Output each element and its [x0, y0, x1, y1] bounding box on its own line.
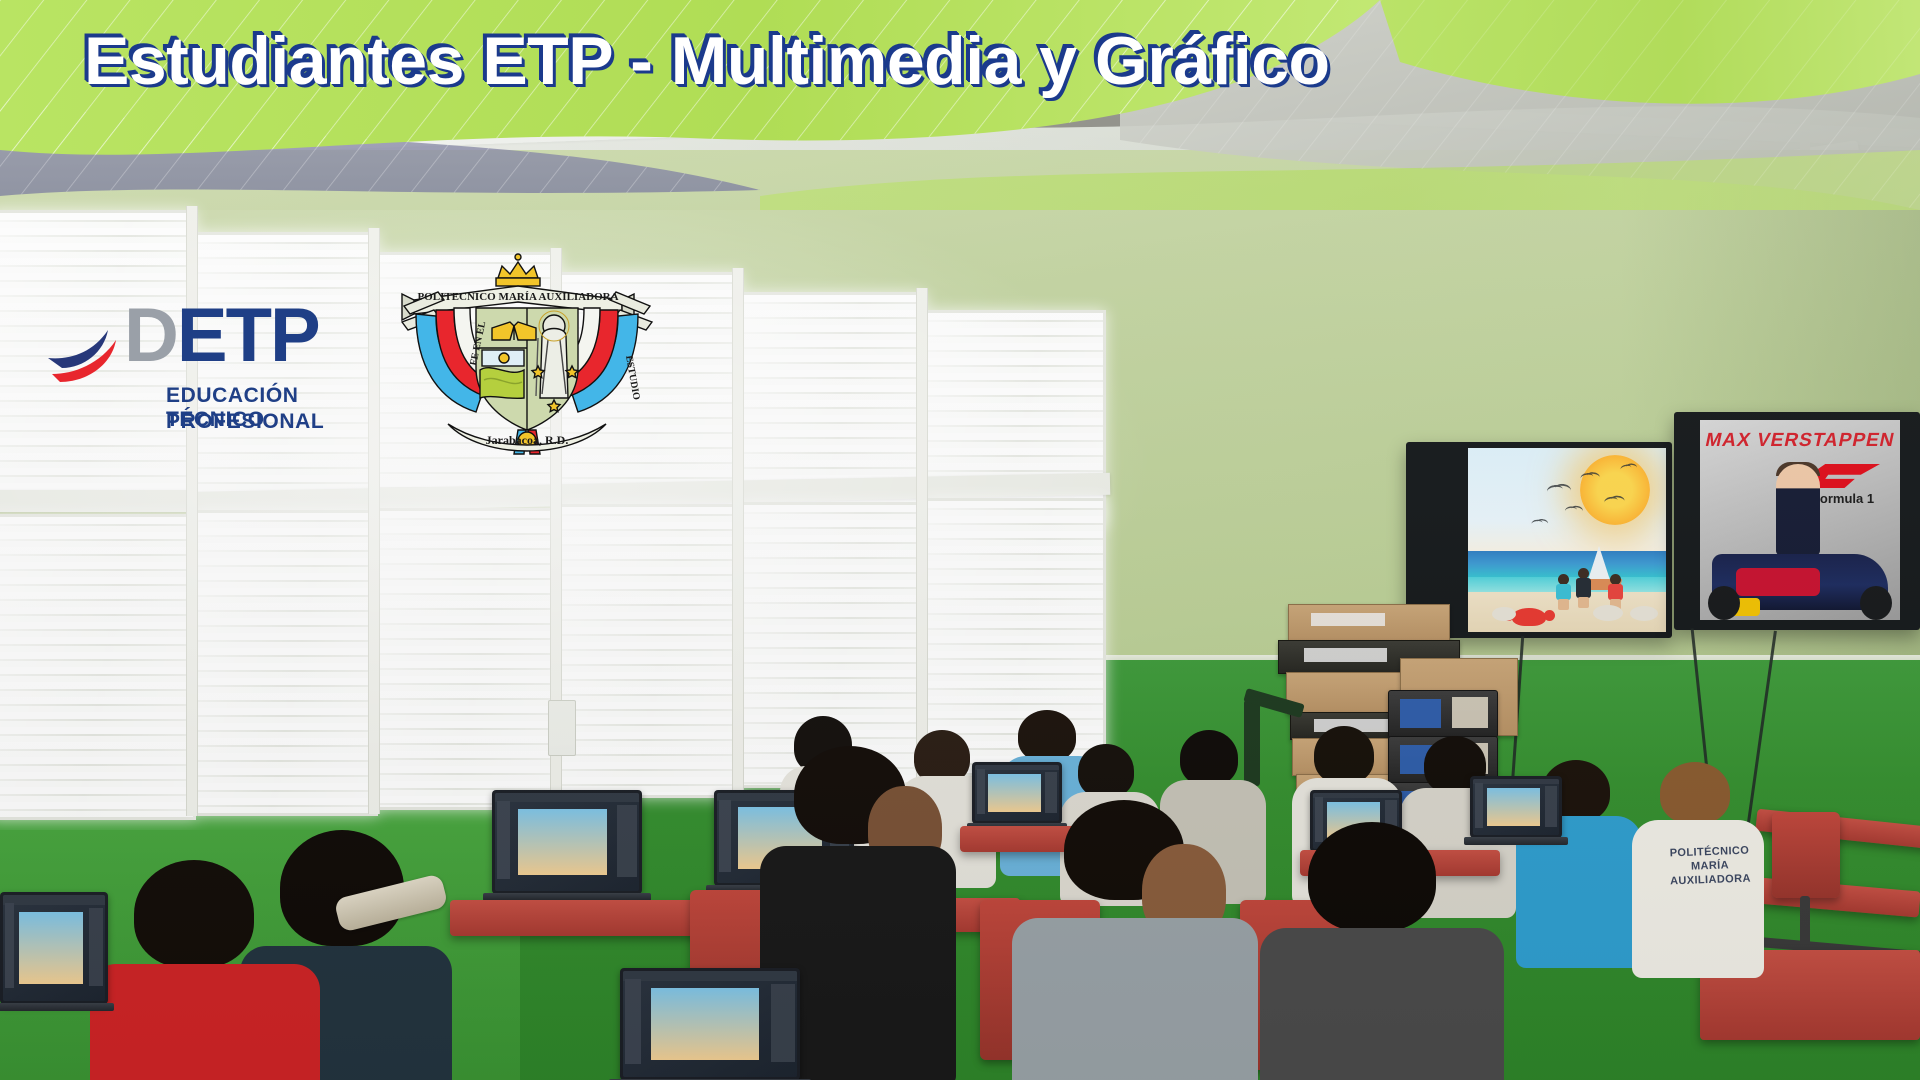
chair	[1772, 812, 1840, 898]
crest-ribbon-right: ESTUDIO	[623, 355, 642, 401]
school-crest: POLITECNICO MARÍA AUXILIADORA FE EN EL E…	[392, 248, 662, 458]
tire	[1708, 586, 1740, 620]
student-shirt-text: POLITÉCNICO MARÍA AUXILIADORA	[1649, 844, 1770, 889]
crest-top-banner: POLITECNICO MARÍA AUXILIADORA	[417, 291, 618, 303]
classroom-photograph: MAX VERSTAPPEN Formula 1	[0, 0, 1920, 1080]
detp-letter-d: D	[124, 293, 177, 378]
student-foreground	[1012, 800, 1242, 1080]
laptop	[492, 790, 642, 894]
driver-figure	[1776, 464, 1820, 556]
slide-root: MAX VERSTAPPEN Formula 1	[0, 0, 1920, 1080]
detp-tagline-line2: PROFESIONAL	[166, 410, 324, 434]
kid-figure	[1555, 574, 1572, 610]
rock	[1593, 605, 1623, 621]
bird-icon	[1531, 519, 1543, 528]
detp-logo: DETP EDUCACIÓN TÉCNICO PROFESIONAL	[46, 300, 376, 430]
crab-icon	[1512, 608, 1546, 626]
window-pane	[376, 508, 560, 810]
detp-letters-etp: ETP	[177, 293, 319, 378]
window-mullion	[916, 288, 928, 780]
page-title: Estudiantes ETP - Multimedia y Gráfico	[84, 22, 1330, 100]
beach-illustration	[1468, 448, 1666, 632]
window-pane	[194, 510, 378, 816]
laptop	[0, 892, 108, 1004]
f1-poster: MAX VERSTAPPEN Formula 1	[1700, 420, 1900, 620]
window-pane	[0, 514, 196, 820]
wall-switch-box	[548, 700, 576, 756]
sun-icon	[1580, 455, 1650, 525]
car-livery-red	[1736, 568, 1820, 596]
bird-icon	[1565, 506, 1578, 515]
tv-right: MAX VERSTAPPEN Formula 1	[1674, 412, 1920, 630]
bird-icon	[1580, 472, 1594, 482]
tv-right-screen: MAX VERSTAPPEN Formula 1	[1700, 420, 1900, 620]
rock	[1492, 607, 1516, 621]
window-mullion	[732, 268, 744, 794]
cardboard-box	[1288, 604, 1450, 642]
student-foreground	[100, 860, 300, 1080]
laptop	[620, 968, 800, 1080]
kid-figure	[1575, 568, 1592, 610]
tire	[1860, 586, 1892, 620]
window-rail	[0, 490, 190, 512]
bird-icon	[1546, 484, 1563, 497]
shirt-line-2: MARÍA AUXILIADORA	[1650, 858, 1771, 890]
detp-wordmark: DETP	[124, 300, 319, 372]
f1-driver-name: MAX VERSTAPPEN	[1700, 430, 1900, 452]
storage-bin	[1388, 690, 1498, 738]
student-foreground	[1260, 822, 1490, 1080]
detp-swoosh-icon	[46, 328, 124, 382]
window-pane	[558, 504, 742, 798]
tv-left-screen	[1468, 448, 1666, 632]
